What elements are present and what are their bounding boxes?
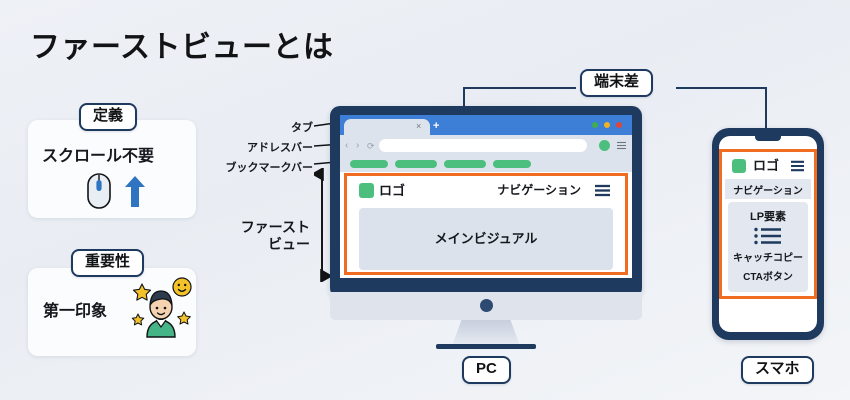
phone-first-view-frame: ロゴ ナビゲーション LP要素 [719,149,817,299]
bookmark-chip[interactable] [493,160,531,168]
phone-logo-label: ロゴ [753,158,779,174]
annotation-bookmark-bar: ブックマークバー [226,159,313,175]
bookmark-chip[interactable] [395,160,437,168]
importance-heading: 第一印象 [43,297,107,321]
new-tab-icon[interactable]: + [433,121,439,132]
logo-square-icon [359,183,374,198]
device-difference-pill: 端末差 [580,69,653,97]
phone-lp-content-card: LP要素 キャッチコピー CTAボタン [728,202,808,292]
tab-close-icon[interactable]: × [416,122,421,131]
nav-reload-icon[interactable]: ⟳ [367,139,375,153]
person-icon [128,274,194,340]
first-view-measure-arrow [314,168,330,282]
nav-forward-icon[interactable]: › [356,139,359,153]
annotation-first-view-line2: ビュー [268,236,310,252]
window-minimize-dot[interactable] [592,122,598,128]
window-maximize-dot[interactable] [604,122,610,128]
browser-address-bar: ‹ › ⟳ [340,135,632,156]
phone-device-label: スマホ [741,356,814,384]
annotation-tab: タブ [291,119,313,135]
bulleted-list-icon [754,227,782,245]
url-input[interactable] [379,139,587,152]
phone-screen: ロゴ ナビゲーション LP要素 [719,136,817,332]
annotation-first-view-line1: ファースト [241,219,310,235]
profile-avatar-icon[interactable] [599,140,610,151]
logo-square-icon [732,159,746,173]
definition-card [28,120,196,218]
star-icon [132,314,144,325]
importance-pill-label: 重要性 [71,249,144,277]
pc-main-visual: メインビジュアル [359,208,613,270]
window-close-dot[interactable] [616,122,622,128]
pc-site-header: ロゴ ナビゲーション [347,176,625,204]
up-arrow-icon [123,172,147,210]
hamburger-icon[interactable] [790,160,805,172]
browser-bookmark-bar [340,156,632,172]
smartphone-device: ロゴ ナビゲーション LP要素 [712,128,824,340]
annotation-address-bar: アドレスバー [247,139,313,155]
annotation-first-view: ファースト ビュー [222,219,310,252]
pc-main-visual-label: メインビジュアル [359,228,613,247]
phone-nav-band[interactable]: ナビゲーション [725,179,811,199]
phone-cta-button-label[interactable]: CTAボタン [728,268,808,283]
phone-notch [755,136,781,141]
browser-tab-bar: × + [340,115,632,135]
mouse-icon [86,172,112,210]
pc-device-label: PC [462,356,511,384]
star-icon [178,312,191,324]
pc-nav-label[interactable]: ナビゲーション [497,183,581,198]
phone-nav-label: ナビゲーション [725,182,811,197]
hamburger-icon[interactable] [594,184,611,197]
pc-monitor: × + ‹ › ⟳ [330,106,642,298]
star-icon [134,284,151,300]
pc-screen: × + ‹ › ⟳ [340,115,632,278]
definition-heading: スクロール不要 [42,142,154,166]
pc-monitor-base [436,344,536,349]
phone-catch-copy-label: キャッチコピー [728,249,808,264]
browser-menu-icon[interactable] [616,140,627,151]
pc-camera-dot-icon [480,299,493,312]
infographic-canvas: ファーストビューとは 定義 スクロール不要 重要性 第一印象 [0,0,850,400]
pc-monitor-stand [452,320,520,346]
page-title: ファーストビューとは [30,22,334,66]
definition-pill-label: 定義 [79,103,137,131]
pc-first-view-frame: ロゴ ナビゲーション メインビジュアル [344,173,628,275]
phone-lp-label: LP要素 [728,208,808,224]
pc-logo-label: ロゴ [379,183,405,198]
bookmark-chip[interactable] [350,160,388,168]
smiley-icon [173,278,191,296]
avatar [147,291,175,337]
nav-back-icon[interactable]: ‹ [345,139,348,153]
bookmark-chip[interactable] [444,160,486,168]
